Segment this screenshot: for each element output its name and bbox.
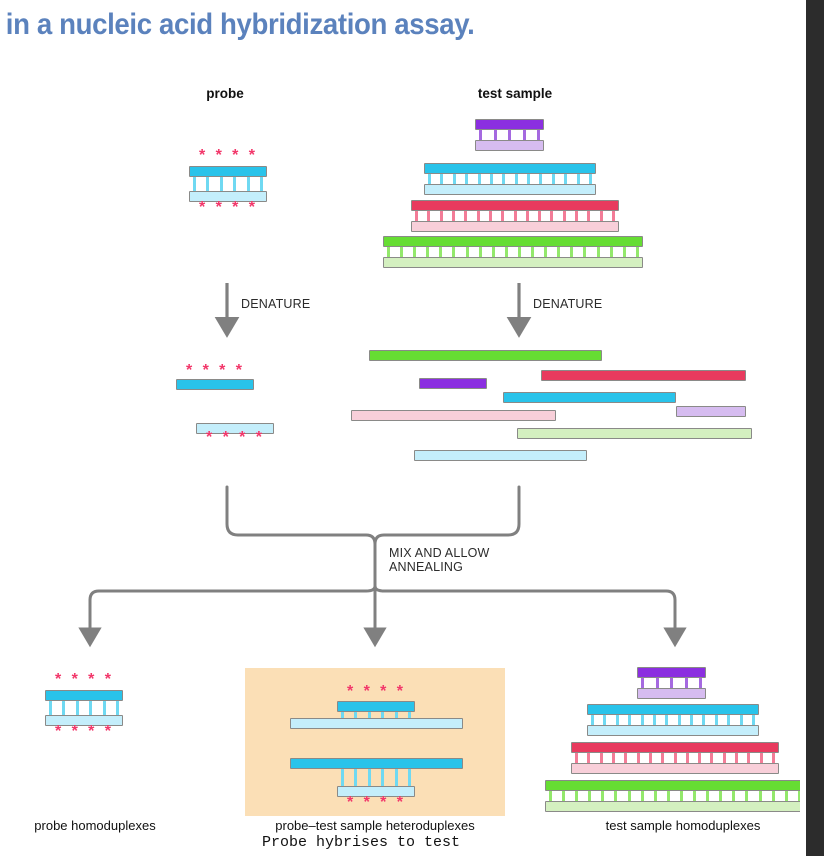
duplex-bottom-strand — [571, 763, 779, 774]
caption-heteroduplexes: probe–test sample heteroduplexes — [240, 818, 510, 833]
duplex-bottom-strand — [337, 786, 415, 797]
duplex-top-strand — [587, 704, 759, 715]
caption-probe-homoduplexes: probe homoduplexes — [0, 818, 190, 833]
outcome-test-duplex-crimson — [571, 742, 779, 774]
outcome-test-duplex-cyan — [587, 704, 759, 736]
base-pair-rungs — [341, 769, 411, 786]
base-pair-rungs — [575, 753, 775, 763]
duplex-top-strand — [637, 667, 706, 678]
base-pair-rungs — [49, 701, 119, 715]
denatured-probe-strand-complement — [196, 423, 274, 434]
denatured-test-strand-purple — [419, 378, 487, 389]
base-pair-rungs — [641, 678, 702, 688]
base-pair-rungs — [591, 715, 755, 725]
denatured-test-strand-pale-cyan — [414, 450, 587, 461]
duplex-top-strand — [545, 780, 805, 791]
duplex-top-strand — [571, 742, 779, 753]
outcome-test-duplex-green — [545, 780, 805, 812]
denatured-test-strand-pale-green — [517, 428, 752, 439]
denatured-probe-strand-labeled — [176, 379, 254, 390]
denatured-test-strand-pink — [351, 410, 556, 421]
duplex-bottom-strand — [637, 688, 706, 699]
process-label-mix-line1: MIX AND ALLOW — [389, 546, 490, 560]
process-label-denature-left: DENATURE — [241, 297, 310, 311]
right-edge-strip — [806, 0, 824, 856]
outcome-probe-homoduplex — [45, 690, 123, 726]
denatured-test-strand-green — [369, 350, 602, 361]
heteroduplex-lower-test-strand — [290, 758, 463, 769]
process-label-denature-right: DENATURE — [533, 297, 602, 311]
base-pair-rungs — [549, 791, 801, 801]
denatured-test-strand-cyan — [503, 392, 676, 403]
duplex-top-strand — [337, 701, 415, 712]
overlay-annotation-text: Probe hybrises to test — [262, 834, 460, 851]
diagram-canvas: n in a nucleic acid hybridization assay.… — [0, 0, 824, 856]
duplex-bottom-strand — [545, 801, 805, 812]
duplex-bottom-strand — [587, 725, 759, 736]
heteroduplex-lower-probe-strand — [337, 769, 415, 797]
duplex-top-strand — [45, 690, 123, 701]
process-label-mix-line2: ANNEALING — [389, 560, 463, 574]
caption-test-sample-homoduplexes: test sample homoduplexes — [558, 818, 808, 833]
heteroduplex-upper-test-strand — [290, 718, 463, 729]
outcome-test-duplex-purple — [637, 667, 706, 699]
denatured-test-strand-lavender — [676, 406, 746, 417]
denatured-test-strand-crimson — [541, 370, 746, 381]
duplex-bottom-strand — [45, 715, 123, 726]
